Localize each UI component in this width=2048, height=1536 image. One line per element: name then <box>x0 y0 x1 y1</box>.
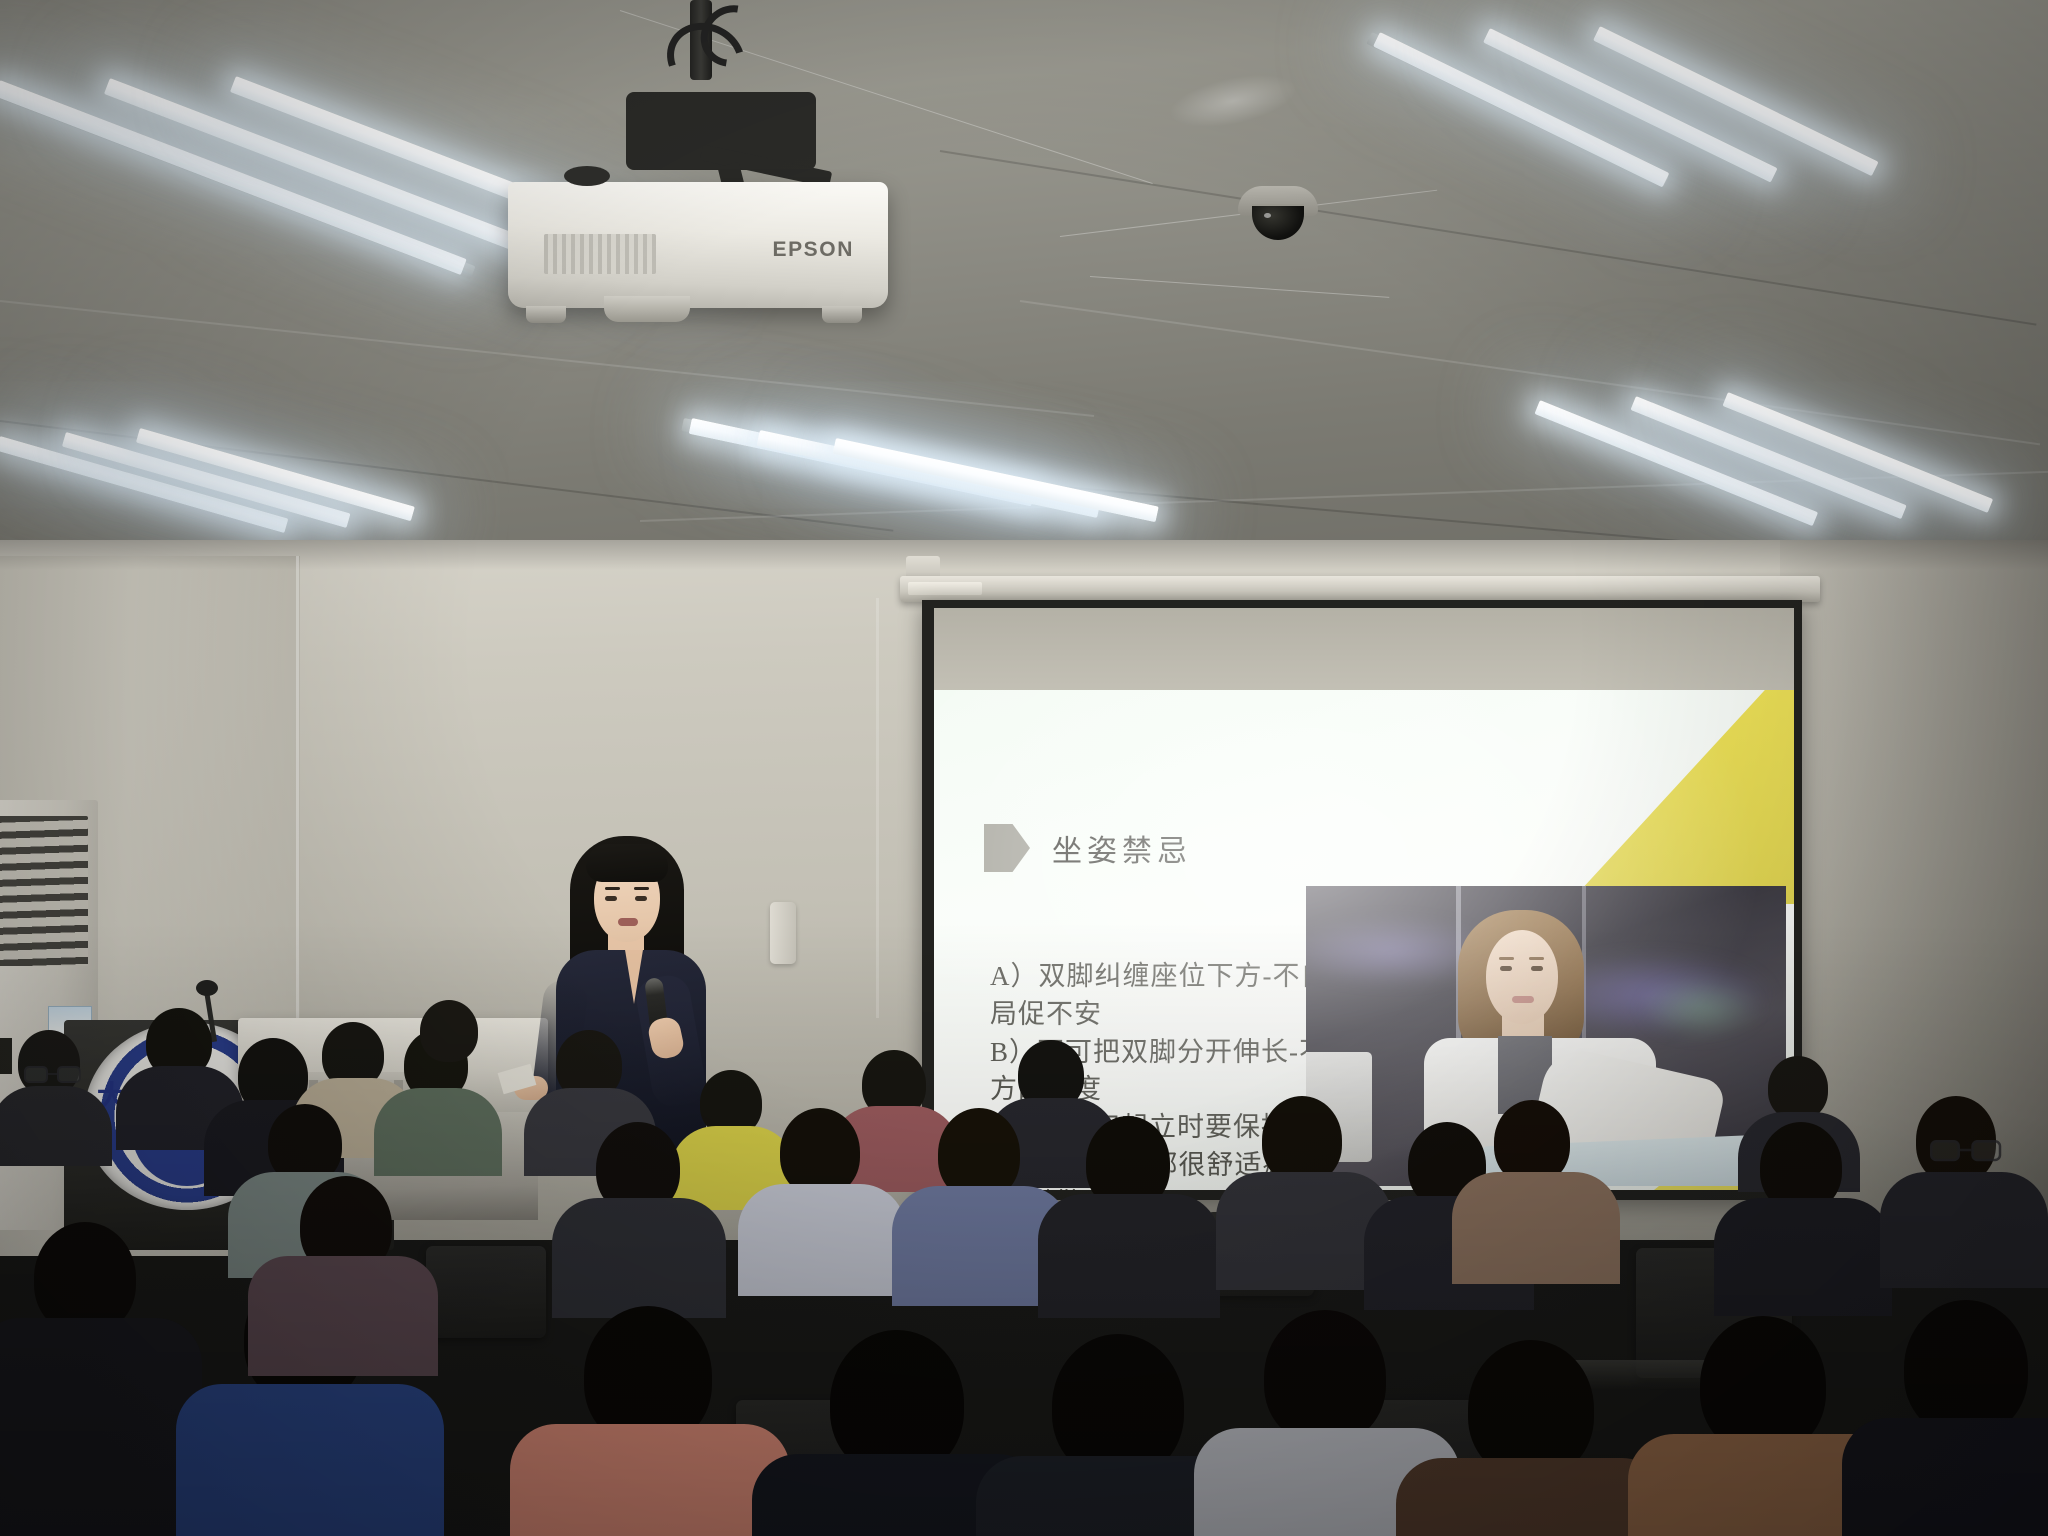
audience-shoulders <box>738 1184 906 1296</box>
slide-title-row: 坐姿禁忌 <box>984 824 1192 872</box>
audience-head <box>420 1000 478 1062</box>
projector-knob <box>564 166 610 186</box>
presenter-eye <box>605 896 617 901</box>
screen-unlit-area <box>934 608 1794 692</box>
audience-head <box>1768 1056 1828 1120</box>
screen-housing-tab <box>908 582 982 595</box>
anchor-eyebrow <box>1529 957 1544 960</box>
audience-head <box>1904 1300 2028 1436</box>
audience-shoulders <box>552 1198 726 1318</box>
audience <box>0 1000 2048 1536</box>
screen-housing <box>900 576 1820 602</box>
camera-highlight <box>1264 213 1271 218</box>
presenter-eyebrow <box>605 887 620 890</box>
presenter-lips <box>618 918 638 926</box>
audience-shoulders <box>0 1086 112 1166</box>
audience-shoulders <box>1880 1172 2048 1288</box>
projector-brand-label: EPSON <box>772 238 854 262</box>
projector-vent <box>544 234 656 274</box>
anchor-eye <box>1531 966 1543 971</box>
audience-shoulders <box>248 1256 438 1376</box>
presenter-fringe <box>586 844 668 882</box>
slide-title-marker-icon <box>984 824 1030 872</box>
slide-yellow-triangle <box>1568 690 1794 904</box>
audience-shoulders <box>1452 1172 1620 1284</box>
audience-shoulders <box>1038 1194 1220 1318</box>
audience-shoulders <box>510 1424 790 1536</box>
projector: EPSON <box>508 182 888 308</box>
projector-foot <box>526 306 566 323</box>
presenter-eye <box>635 896 647 901</box>
chair-back <box>426 1246 546 1338</box>
gooseneck-microphone <box>196 980 218 996</box>
presenter-eyebrow <box>634 887 649 890</box>
audience-head <box>780 1108 860 1196</box>
audience-shoulders <box>0 1318 202 1536</box>
audience-head <box>1264 1310 1386 1444</box>
wall-speaker <box>770 902 796 964</box>
slide-title: 坐姿禁忌 <box>1052 826 1192 870</box>
anchor-eyebrow <box>1499 957 1514 960</box>
anchor-eye <box>1500 966 1512 971</box>
audience-shoulders <box>374 1088 502 1176</box>
audience-head <box>1262 1096 1342 1184</box>
air-conditioner-grill <box>0 816 88 966</box>
camera-dome-glass <box>1252 204 1304 240</box>
projector-foot <box>822 306 862 323</box>
lecture-hall-photo: EPSON 坐姿禁忌 A）双脚纠缠座位下方-不自信引起 局 <box>0 0 2048 1536</box>
wall-ceiling-shadow <box>0 540 2048 570</box>
audience-shoulders <box>1714 1198 1892 1316</box>
dome-security-camera <box>1238 186 1318 240</box>
audience-shoulders <box>1842 1418 2048 1536</box>
wall-seam <box>876 598 879 1018</box>
projector-lens <box>604 296 690 322</box>
audience-shoulders <box>176 1384 444 1536</box>
